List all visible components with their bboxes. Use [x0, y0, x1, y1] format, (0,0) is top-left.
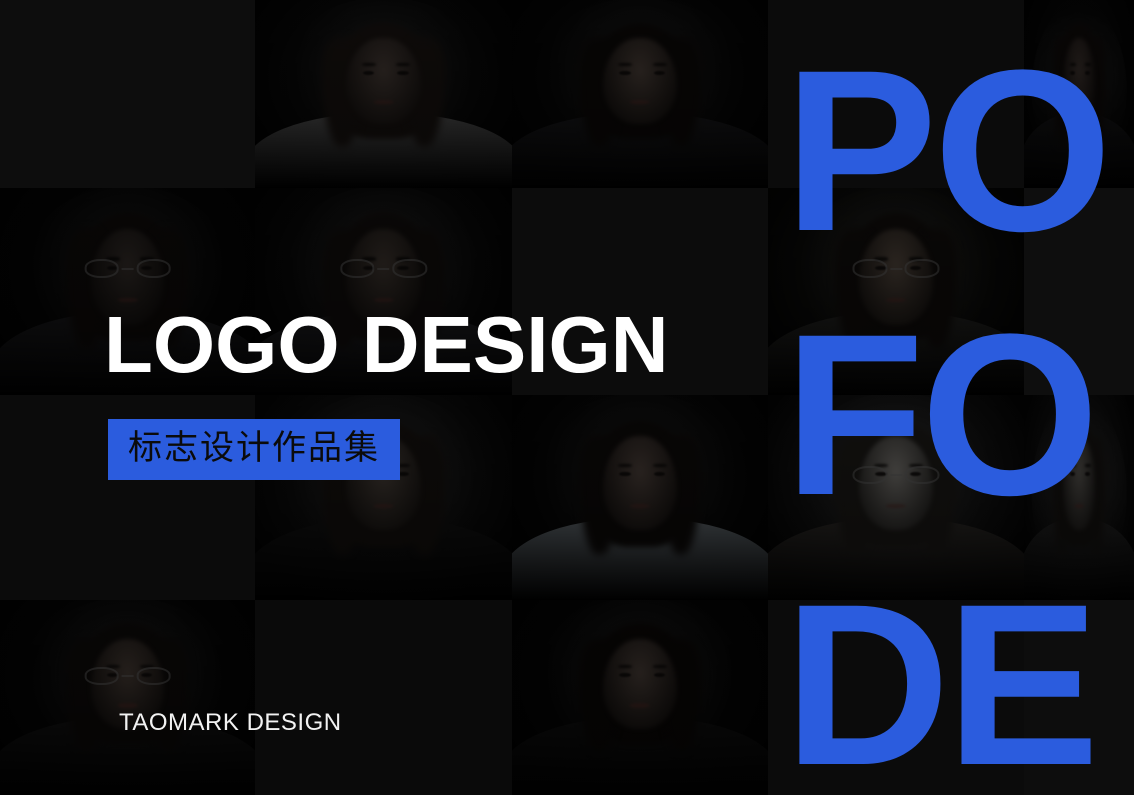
portrait-photo: [512, 0, 768, 188]
tile-r4c3: [512, 600, 768, 795]
portrait-photo: [0, 600, 255, 795]
tile-r1c2: [255, 0, 512, 188]
portrait-photo: [512, 395, 768, 600]
tile-r1c1: [0, 0, 255, 188]
display-letter-row-3: DE: [784, 570, 1096, 795]
display-letter-row-2: FO: [784, 300, 1095, 530]
subtitle-badge: 标志设计作品集: [108, 419, 400, 480]
poster-canvas: POFODE LOGO DESIGN 标志设计作品集 TAOMARK DESIG…: [0, 0, 1134, 795]
page-title: LOGO DESIGN: [104, 305, 669, 385]
brand-name: TAOMARK DESIGN: [119, 709, 342, 737]
portrait-photo: [255, 0, 512, 188]
tile-r3c3: [512, 395, 768, 600]
tile-r4c2: [255, 600, 512, 795]
portrait-photo: [512, 600, 768, 795]
tile-r1c3: [512, 0, 768, 188]
display-letter-row-1: PO: [784, 36, 1108, 266]
tile-r4c1: [0, 600, 255, 795]
